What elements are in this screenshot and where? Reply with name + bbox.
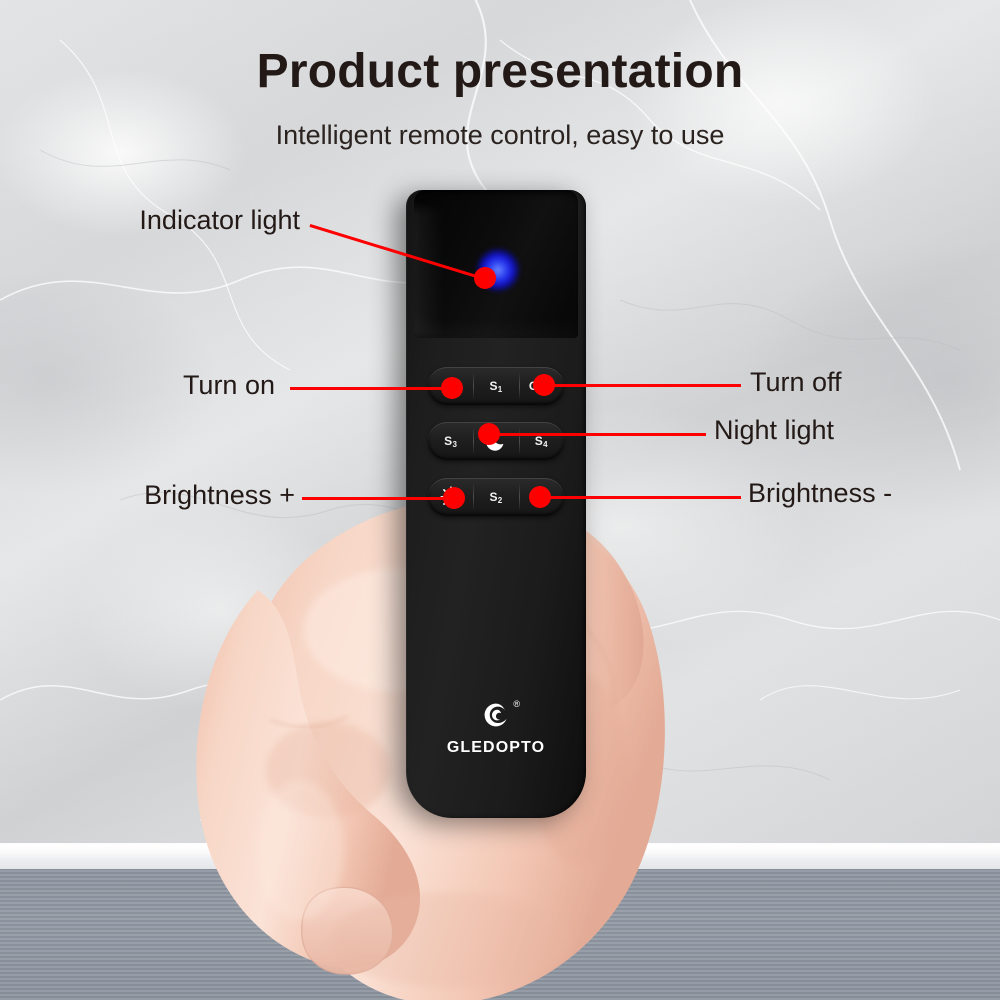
callout-dot-brightness-plus — [443, 487, 465, 509]
leader-line-night-light — [490, 433, 706, 436]
annotation-turn-off: Turn off — [750, 367, 842, 398]
button-s2[interactable]: S2 — [473, 478, 518, 516]
page-subtitle: Intelligent remote control, easy to use — [0, 120, 1000, 151]
annotation-brightness-plus: Brightness + — [60, 480, 295, 511]
page-title: Product presentation — [0, 44, 1000, 99]
button-s3-label: S — [444, 434, 452, 448]
brand-name: GLEDOPTO — [406, 739, 586, 757]
button-s4-label: S — [535, 434, 543, 448]
button-s2-label: S — [489, 490, 497, 504]
button-s3[interactable]: S3 — [428, 422, 473, 460]
button-s1-label: S — [489, 379, 497, 393]
registered-trademark-symbol: ® — [513, 700, 520, 709]
button-s1-sub: 1 — [498, 385, 503, 394]
annotation-brightness-minus: Brightness - — [748, 478, 892, 509]
callout-dot-indicator-light — [474, 267, 496, 289]
leader-line-turn-off — [545, 384, 741, 387]
annotation-indicator-light: Indicator light — [90, 205, 300, 236]
top-panel-sheen — [414, 208, 444, 338]
button-s4[interactable]: S4 — [519, 422, 564, 460]
remote-control-device[interactable]: ON S1 OFF S3 S4 — [406, 190, 586, 818]
callout-dot-turn-off — [533, 374, 555, 396]
button-s1[interactable]: S1 — [473, 367, 518, 405]
callout-dot-turn-on — [441, 377, 463, 399]
annotation-night-light: Night light — [714, 415, 834, 446]
leader-line-brightness-minus — [545, 496, 741, 499]
gledopto-g-logo-icon: ® — [483, 702, 509, 728]
callout-dot-night-light — [478, 423, 500, 445]
annotation-turn-on: Turn on — [120, 370, 275, 401]
callout-dot-brightness-minus — [529, 486, 551, 508]
button-s2-sub: 2 — [498, 496, 503, 505]
leader-line-turn-on — [290, 387, 455, 390]
button-s4-sub: 4 — [543, 440, 548, 449]
brand-logo: ® GLEDOPTO — [406, 702, 586, 757]
leader-line-brightness-plus — [302, 497, 457, 500]
button-s3-sub: 3 — [452, 440, 457, 449]
product-presentation-image: ON S1 OFF S3 S4 — [0, 0, 1000, 1000]
